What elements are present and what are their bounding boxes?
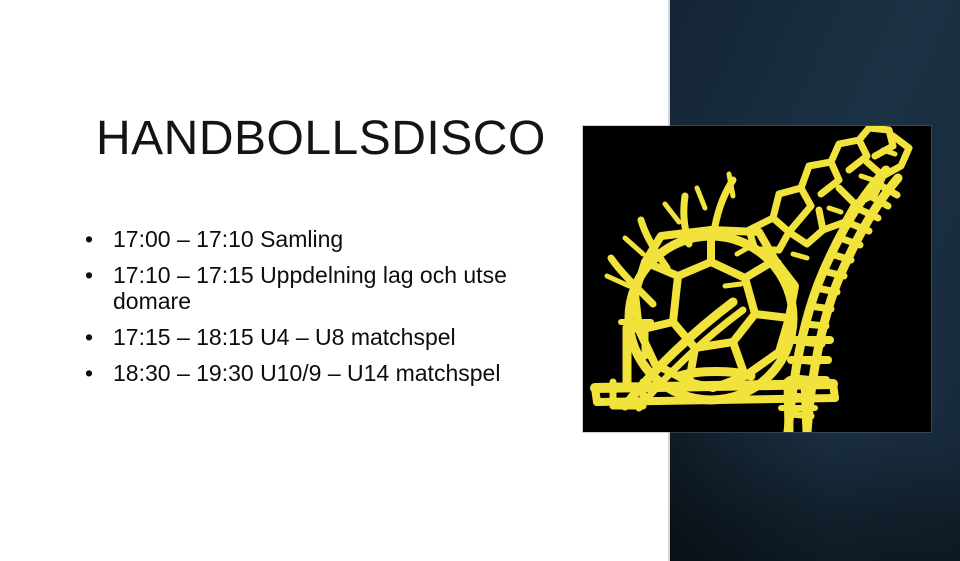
list-item-label: 17:10 – 17:15 Uppdelning lag och utse do… [113,262,520,315]
agenda-bullet-list: • 17:00 – 17:10 Samling • 17:10 – 17:15 … [80,226,520,395]
slide-title: HANDBOLLSDISCO [96,114,546,164]
handball-ramp-image [583,126,931,432]
list-item: • 17:10 – 17:15 Uppdelning lag och utse … [80,262,520,315]
bullet-marker-icon: • [80,324,113,351]
list-item: • 17:15 – 18:15 U4 – U8 matchspel [80,324,520,351]
bullet-marker-icon: • [80,360,113,387]
bullet-marker-icon: • [80,262,113,289]
list-item: • 17:00 – 17:10 Samling [80,226,520,253]
list-item-label: 17:15 – 18:15 U4 – U8 matchspel [113,324,520,351]
list-item-label: 18:30 – 19:30 U10/9 – U14 matchspel [113,360,520,387]
list-item: • 18:30 – 19:30 U10/9 – U14 matchspel [80,360,520,387]
slide: HANDBOLLSDISCO • 17:00 – 17:10 Samling •… [0,0,960,561]
handball-ramp-illustration [583,126,931,432]
list-item-label: 17:00 – 17:10 Samling [113,226,520,253]
bullet-marker-icon: • [80,226,113,253]
